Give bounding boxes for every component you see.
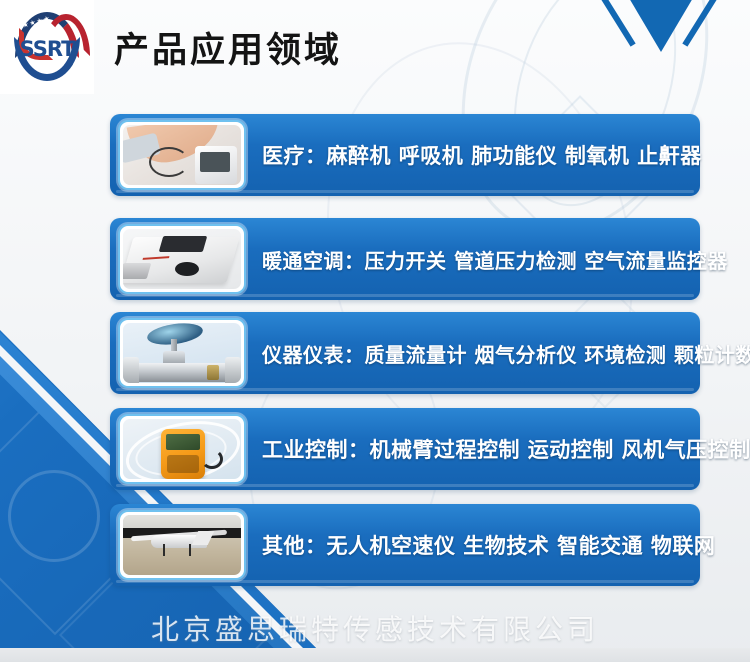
hvac-pressure-device-photo [123, 229, 241, 289]
thumbnail-frame [118, 510, 246, 580]
handheld-controller-photo [123, 419, 241, 479]
application-rows-list: 医疗：麻醉机 呼吸机 肺功能仪 制氧机 止鼾器 暖通空调：压力开关 管道压力检测… [0, 0, 750, 662]
thumbnail-frame [118, 224, 246, 294]
application-row-label: 暖通空调：压力开关 管道压力检测 空气流量监控器 [262, 245, 728, 274]
slide-canvas: ★★★★ SSRT 产品应用领域 医疗：麻醉机 呼吸机 肺功能仪 制氧机 止鼾器 [0, 0, 750, 662]
application-row-instrumentation[interactable]: 仪器仪表：质量流量计 烟气分析仪 环境检测 颗粒计数器 [110, 312, 700, 394]
bottom-strip [0, 648, 750, 662]
blood-pressure-monitor-photo [123, 125, 241, 185]
thumbnail-frame [118, 120, 246, 190]
application-row-hvac[interactable]: 暖通空调：压力开关 管道压力检测 空气流量监控器 [110, 218, 700, 300]
application-row-label: 仪器仪表：质量流量计 烟气分析仪 环境检测 颗粒计数器 [262, 339, 750, 368]
thumbnail-frame [118, 414, 246, 484]
flow-meter-valve-photo [123, 323, 241, 383]
thumbnail-frame [118, 318, 246, 388]
application-row-label: 医疗：麻醉机 呼吸机 肺功能仪 制氧机 止鼾器 [262, 140, 702, 170]
application-row-label: 其他：无人机空速仪 生物技术 智能交通 物联网 [262, 530, 715, 560]
uav-drone-photo [123, 515, 241, 575]
application-row-other[interactable]: 其他：无人机空速仪 生物技术 智能交通 物联网 [110, 504, 700, 586]
application-row-industrial-control[interactable]: 工业控制：机械臂过程控制 运动控制 风机气压控制 [110, 408, 700, 490]
application-row-medical[interactable]: 医疗：麻醉机 呼吸机 肺功能仪 制氧机 止鼾器 [110, 114, 700, 196]
application-row-label: 工业控制：机械臂过程控制 运动控制 风机气压控制 [262, 434, 750, 464]
